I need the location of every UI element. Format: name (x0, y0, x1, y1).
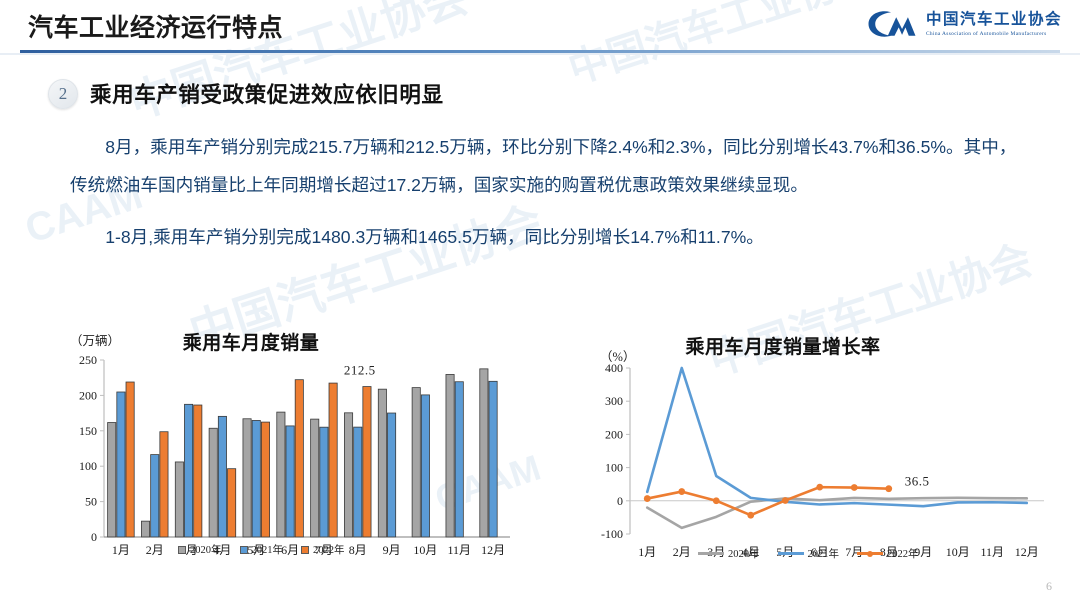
paragraph-1: 8月，乘用车产销分别完成215.7万辆和212.5万辆，环比分别下降2.4%和2… (70, 128, 1030, 204)
legend-label: 2020年 (190, 542, 222, 557)
chart-left-legend: 2020年2021年2022年 (178, 542, 345, 557)
legend-swatch (240, 546, 248, 554)
chart-left-title: 乘用车月度销量 (86, 328, 416, 355)
svg-text:-100: -100 (601, 527, 623, 541)
svg-text:9月: 9月 (383, 543, 401, 557)
legend-item: 2020年 (698, 546, 760, 561)
svg-text:300: 300 (605, 394, 623, 408)
chart-right-title: 乘用车月度销量增长率 (618, 332, 948, 359)
legend-label: 2022年 (313, 542, 345, 557)
page-title: 汽车工业经济运行特点 (28, 8, 283, 44)
svg-text:200: 200 (605, 427, 623, 441)
slide: 中国汽车工业协会 中国汽车工业协会 中国汽车工业协会 中国汽车工业协会 CAAM… (0, 0, 1080, 604)
svg-text:11月: 11月 (980, 545, 1004, 559)
caam-logo-icon (866, 7, 918, 41)
svg-text:2月: 2月 (673, 545, 691, 559)
paragraph-2: 1-8月,乘用车产销分别完成1480.3万辆和1465.5万辆，同比分别增长14… (70, 218, 1030, 256)
svg-text:250: 250 (79, 353, 97, 367)
logo-title-en: China Association of Automobile Manufact… (926, 31, 1062, 37)
svg-text:12月: 12月 (1015, 545, 1039, 559)
legend-label: 2020年 (728, 546, 760, 561)
header-divider-secondary (0, 53, 1080, 55)
svg-text:212.5: 212.5 (344, 363, 376, 378)
svg-text:50: 50 (85, 495, 97, 509)
chart-left-plot: 0501001502002501月2月3月4月5月6月7月8月9月10月11月1… (58, 352, 518, 567)
svg-text:200: 200 (79, 388, 97, 402)
svg-text:36.5: 36.5 (905, 474, 930, 489)
svg-text:10月: 10月 (946, 545, 970, 559)
chart-right-plot: -10001002003004001月2月3月4月5月6月7月8月9月10月11… (578, 358, 1058, 568)
svg-text:0: 0 (617, 494, 623, 508)
page-number: 6 (1046, 579, 1052, 594)
section-number-badge: 2 (48, 79, 78, 109)
chart-right-legend: 2020年2021年2022年 (698, 546, 919, 561)
section-heading: 2 乘用车产销受政策促进效应依旧明显 (48, 78, 444, 109)
slide-header: 汽车工业经济运行特点 中国汽车工业协会 China Association of… (0, 0, 1080, 56)
chart-monthly-sales: （万辆） 乘用车月度销量 0501001502002501月2月3月4月5月6月… (58, 320, 518, 570)
legend-line-swatch (778, 552, 804, 555)
svg-text:1月: 1月 (638, 545, 656, 559)
body-text: 8月，乘用车产销分别完成215.7万辆和212.5万辆，环比分别下降2.4%和2… (70, 128, 1030, 256)
legend-label: 2021年 (808, 546, 840, 561)
svg-text:12月: 12月 (481, 543, 505, 557)
svg-text:100: 100 (605, 461, 623, 475)
logo-title-cn: 中国汽车工业协会 (926, 11, 1062, 28)
legend-line-swatch (857, 552, 883, 555)
svg-text:2月: 2月 (146, 543, 164, 557)
legend-label: 2021年 (252, 542, 284, 557)
legend-item: 2020年 (178, 542, 222, 557)
svg-text:400: 400 (605, 361, 623, 375)
legend-item: 2022年 (301, 542, 345, 557)
legend-item: 2022年 (857, 546, 919, 561)
svg-text:100: 100 (79, 459, 97, 473)
svg-text:0: 0 (91, 530, 97, 544)
caam-logo: 中国汽车工业协会 China Association of Automobile… (866, 7, 1062, 41)
section-title: 乘用车产销受政策促进效应依旧明显 (90, 78, 444, 109)
legend-line-swatch (698, 552, 724, 555)
charts-container: （万辆） 乘用车月度销量 0501001502002501月2月3月4月5月6月… (0, 320, 1080, 580)
chart-monthly-growth: （%） 乘用车月度销量增长率 -10001002003004001月2月3月4月… (578, 328, 1058, 570)
legend-item: 2021年 (778, 546, 840, 561)
legend-swatch (178, 546, 186, 554)
svg-text:8月: 8月 (349, 543, 367, 557)
legend-item: 2021年 (240, 542, 284, 557)
svg-text:10月: 10月 (413, 543, 437, 557)
svg-text:150: 150 (79, 424, 97, 438)
legend-label: 2022年 (887, 546, 919, 561)
svg-text:11月: 11月 (447, 543, 471, 557)
svg-text:1月: 1月 (112, 543, 130, 557)
legend-swatch (301, 546, 309, 554)
